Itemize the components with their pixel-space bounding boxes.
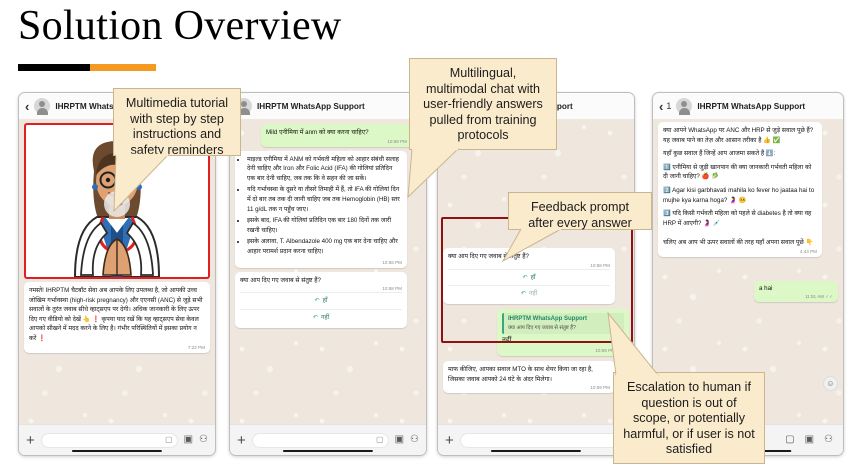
callout-escalation: Escalation to human if question is out o… [613, 372, 765, 464]
scroll-to-bottom-icon[interactable]: ☺ [823, 376, 838, 391]
unread-count-badge: 1 [666, 101, 671, 111]
home-indicator [283, 450, 373, 453]
message-timestamp: 10:58 PM [240, 285, 402, 292]
quick-reply-yes[interactable]: ↶हाँ [240, 292, 402, 309]
reply-arrow-icon: ↶ [314, 297, 319, 304]
message-input[interactable]: ▢ [460, 433, 627, 448]
suggested-question-2: 2️⃣ Agar kisi garbhavati mahila ko fever… [663, 186, 817, 205]
chat-contact-name: IHRPTM WhatsApp Support [257, 102, 365, 111]
chat-spacer [658, 257, 838, 281]
title-divider-rule [18, 64, 156, 71]
callout-tail [517, 229, 577, 269]
home-indicator [72, 450, 162, 453]
callout-text: Escalation to human if question is out o… [623, 380, 755, 456]
list-item: इसके अलावा, T. Albendazole 400 mg एक बार… [247, 237, 402, 256]
suggested-question-1: 1️⃣ एनीमिया से जुड़ी खानपान की क्या जानक… [663, 163, 817, 182]
escalation-message: माफ कीजिए, आपका सवाल MTO के साथ शेयर किय… [443, 361, 615, 393]
phone-screenshot-2: IHRPTM WhatsApp Support Mild एनीमिया में… [229, 92, 427, 456]
avatar [676, 98, 692, 114]
message-text: नहीं [502, 337, 511, 344]
message-text: क्या आप दिए गए जवाब से संतुष्ट हैं? [240, 277, 321, 284]
message-text: माफ कीजिए, आपका सवाल MTO के साथ शेयर किय… [448, 366, 593, 383]
chat-contact-name: IHRPTM WhatsApp Support [697, 102, 805, 111]
message-paragraph: क्या आपने WhatsApp पर ANC और HRP से जुड़… [663, 126, 817, 145]
quick-reply-no[interactable]: ↶नहीं [240, 309, 402, 326]
callout-tail [408, 149, 468, 209]
quoted-message: IHRPTM WhatsApp Support क्या आप दिए गए ज… [502, 313, 624, 334]
video-caption-message: नमस्ते! IHRPTM चैटबॉट सेवा अब आपके लिए उ… [24, 282, 210, 353]
message-paragraph: यहाँ कुछ सवाल हैं जिन्हें आप आजमा सकते ह… [663, 149, 817, 159]
attach-plus-icon[interactable]: + [237, 433, 246, 448]
slide-root: Solution Overview ‹ IHRPTM WhatsApp Supp… [0, 0, 854, 474]
chat-composer[interactable]: + ▢ ▣ ⚇ [230, 424, 426, 455]
reply-arrow-icon: ↶ [313, 314, 318, 321]
mic-icon[interactable]: ⚇ [410, 435, 419, 445]
callout-multimedia: Multimedia tutorial with step by step in… [113, 88, 241, 156]
camera-icon[interactable]: ▣ [805, 435, 814, 445]
camera-icon[interactable]: ▣ [184, 435, 193, 445]
chat-body[interactable]: Mild एनीमिया में anm को क्या करना चाहिए?… [230, 119, 426, 425]
callout-text: Multilingual, multimodal chat with user-… [423, 66, 543, 142]
quick-reply-no[interactable]: ↶नहीं [448, 285, 610, 302]
mic-icon[interactable]: ⚇ [824, 435, 833, 445]
chat-header: IHRPTM WhatsApp Support [230, 93, 426, 120]
quoted-text: क्या आप दिए गए जवाब से संतुष्ट हैं? [508, 324, 620, 332]
camera-icon[interactable]: ▣ [395, 435, 404, 445]
list-item: इसके बाद, IFA की गोलियां प्रतिदिन एक बार… [247, 216, 402, 235]
quick-reply-yes[interactable]: ↶हाँ [448, 269, 610, 286]
back-icon[interactable]: ‹ [659, 100, 663, 113]
message-timestamp: 7:22 PM [188, 344, 205, 351]
message-timestamp: 10:58 PM [382, 259, 402, 266]
message-input[interactable]: ▢ [41, 433, 178, 448]
back-icon[interactable]: ‹ [25, 100, 29, 113]
chat-header: ‹ 1 IHRPTM WhatsApp Support [653, 93, 843, 120]
callout-tail [612, 337, 682, 377]
message-text: Mild एनीमिया में anm को क्या करना चाहिए? [266, 129, 369, 136]
mic-icon[interactable]: ⚇ [199, 435, 208, 445]
intro-suggestions-message: क्या आपने WhatsApp पर ANC और HRP से जुड़… [658, 122, 822, 257]
attach-plus-icon[interactable]: + [26, 433, 35, 448]
message-paragraph: चलिए अब आप भी ऊपर सवालों की तरह यहाँ अपन… [663, 238, 817, 248]
chat-composer[interactable]: + ▢ ▣ ⚇ [19, 424, 215, 455]
reply-arrow-icon: ↶ [521, 290, 526, 297]
callout-feedback: Feedback prompt after every answer [508, 192, 652, 230]
outgoing-message: Mild एनीमिया में anm को क्या करना चाहिए?… [261, 124, 421, 147]
message-input[interactable]: ▢ [252, 433, 389, 448]
rule-segment-black [18, 64, 90, 71]
chat-composer[interactable]: + ▢ [438, 424, 634, 455]
rule-segment-orange [90, 64, 156, 71]
suggested-question-3: 3️⃣ यदि किसी गर्भवती महिला को पहले से di… [663, 209, 817, 228]
list-item: यदि गर्भावस्था के दूसरे या तीसरे तिमाही … [247, 185, 402, 214]
answer-bullet-list: माइल्ड एनीमिया में ANM को गर्भवती महिला … [240, 155, 402, 257]
callout-text: Feedback prompt after every answer [528, 200, 632, 230]
home-indicator [491, 450, 581, 453]
page-title: Solution Overview [18, 2, 342, 50]
callout-multilingual: Multilingual, multimodal chat with user-… [409, 58, 557, 150]
message-timestamp: 11:51 AM ✓✓ [805, 293, 833, 300]
feedback-prompt-message: क्या आप दिए गए जवाब से संतुष्ट हैं? 10:5… [235, 272, 407, 328]
avatar [34, 98, 50, 114]
sticker-icon[interactable]: ▢ [785, 435, 794, 445]
quoted-author: IHRPTM WhatsApp Support [508, 315, 620, 324]
callout-tail [112, 155, 172, 215]
emoji-icon[interactable]: ▢ [165, 436, 173, 444]
incoming-message: माइल्ड एनीमिया में ANM को गर्भवती महिला … [235, 151, 407, 268]
reply-arrow-icon: ↶ [522, 274, 527, 281]
outgoing-message: a hai 11:51 AM ✓✓ [754, 281, 838, 302]
attach-plus-icon[interactable]: + [445, 433, 454, 448]
list-item: माइल्ड एनीमिया में ANM को गर्भवती महिला … [247, 155, 402, 184]
callout-text: Multimedia tutorial with step by step in… [126, 96, 228, 157]
message-text: नमस्ते! IHRPTM चैटबॉट सेवा अब आपके लिए उ… [29, 287, 202, 342]
message-timestamp: 10:59 PM [590, 384, 610, 391]
emoji-icon[interactable]: ▢ [376, 436, 384, 444]
message-timestamp: 4:43 PM [800, 248, 817, 255]
message-text: a hai [759, 285, 772, 292]
